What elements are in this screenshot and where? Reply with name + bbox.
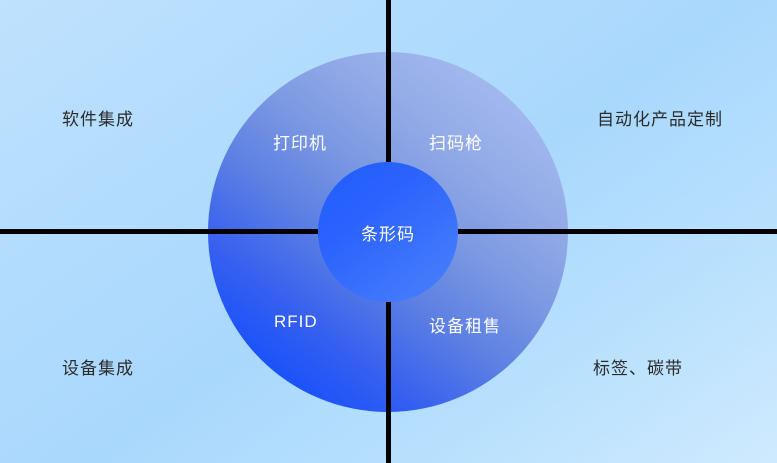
- horizontal-divider-right: [568, 229, 777, 234]
- horizontal-divider-right-inner: [458, 229, 568, 234]
- quadrant-label-software-integration[interactable]: 软件集成: [62, 105, 134, 130]
- horizontal-divider-left: [0, 229, 208, 234]
- ring-label-rfid[interactable]: RFID: [274, 312, 318, 332]
- vertical-divider-lower: [386, 302, 391, 463]
- vertical-divider-upper: [386, 52, 391, 162]
- quadrant-label-device-integration[interactable]: 设备集成: [62, 354, 134, 379]
- center-circle[interactable]: 条形码: [318, 162, 458, 302]
- quadrant-label-automation-customized[interactable]: 自动化产品定制: [597, 105, 723, 130]
- vertical-divider-top: [386, 0, 391, 52]
- diagram-canvas: 条形码 打印机 扫码枪 RFID 设备租售 软件集成 自动化产品定制 设备集成 …: [0, 0, 777, 463]
- center-circle-label: 条形码: [361, 220, 415, 245]
- quadrant-label-labels-ribbons[interactable]: 标签、碳带: [593, 354, 683, 379]
- ring-label-printer[interactable]: 打印机: [273, 129, 327, 154]
- ring-label-equipment-rental[interactable]: 设备租售: [429, 312, 501, 337]
- horizontal-divider-left-inner: [208, 229, 318, 234]
- ring-label-scanner[interactable]: 扫码枪: [429, 129, 483, 154]
